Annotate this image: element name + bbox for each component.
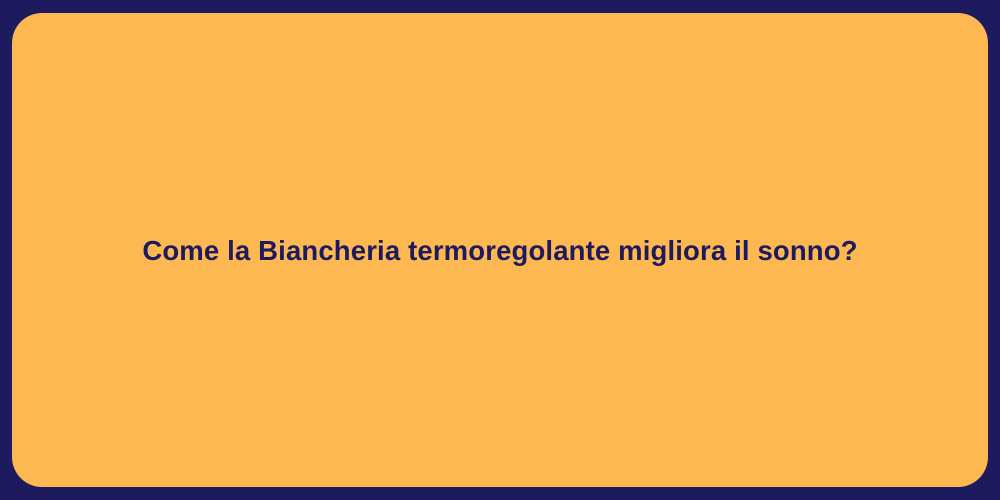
card-frame: Come la Biancheria termoregolante miglio… <box>0 0 1000 500</box>
card-panel: Come la Biancheria termoregolante miglio… <box>12 13 988 487</box>
page-title: Come la Biancheria termoregolante miglio… <box>102 234 897 267</box>
